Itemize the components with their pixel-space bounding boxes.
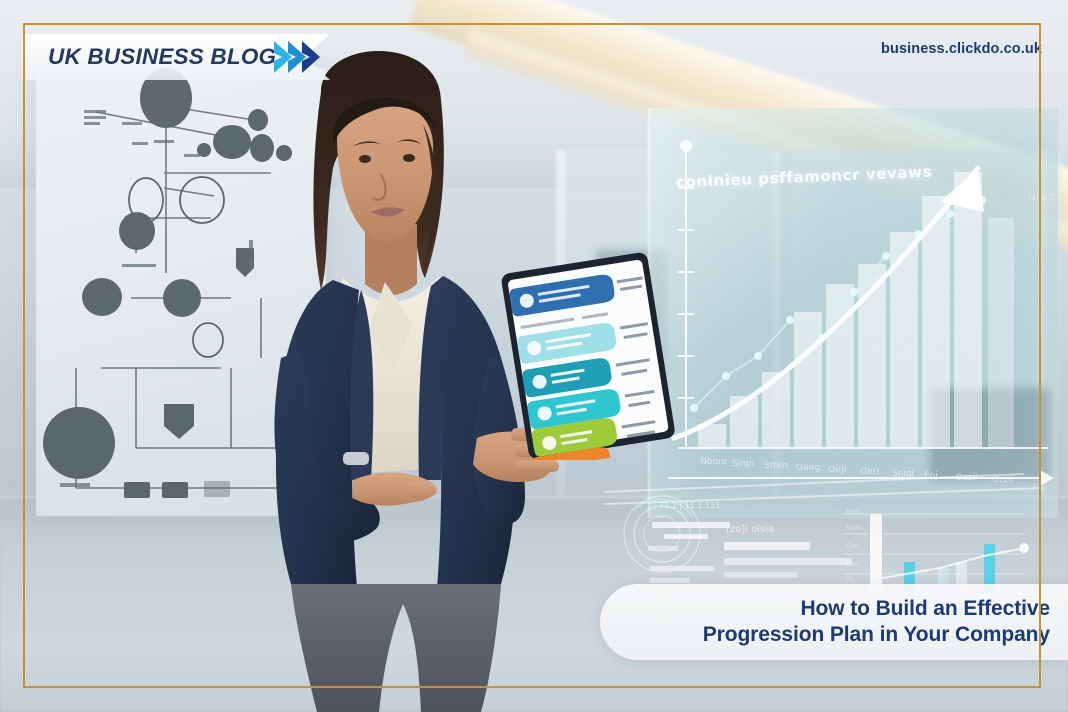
svg-text:[zo]i oisia: [zo]i oisia bbox=[726, 524, 774, 535]
site-url[interactable]: business.clickdo.co.uk bbox=[881, 41, 1042, 57]
featured-image-canvas: coninieu psffamoncr vevaws bbox=[0, 0, 1068, 712]
double-chevron-icon bbox=[272, 37, 334, 77]
svg-text:Nbonr: Nbonr bbox=[700, 457, 728, 467]
headline-banner: How to Build an Effective Progression Pl… bbox=[600, 584, 1068, 660]
headline-text: How to Build an Effective Progression Pl… bbox=[703, 596, 1050, 647]
svg-text:Nom: Nom bbox=[846, 524, 863, 532]
svg-text:Ckn: Ckn bbox=[846, 542, 859, 550]
logo-text: UK BUSINESS BLOG bbox=[48, 44, 276, 70]
svg-text:Ben: Ben bbox=[846, 508, 860, 516]
svg-text:(a)(e 1: (a)(e 1 bbox=[1028, 193, 1055, 202]
svg-text:Sinpi: Sinpi bbox=[732, 459, 754, 469]
svg-text:Pt: Pt bbox=[846, 576, 853, 584]
tablet-device[interactable] bbox=[492, 250, 682, 460]
headline-line-1: How to Build an Effective bbox=[703, 596, 1050, 622]
holographic-bar-chart: NbonrSinpi SttknOairg OirjiOnri SoigiEnj… bbox=[648, 108, 1068, 518]
headline-line-2: Progression Plan in Your Company bbox=[703, 622, 1050, 648]
svg-text:Enn: Enn bbox=[846, 560, 859, 568]
